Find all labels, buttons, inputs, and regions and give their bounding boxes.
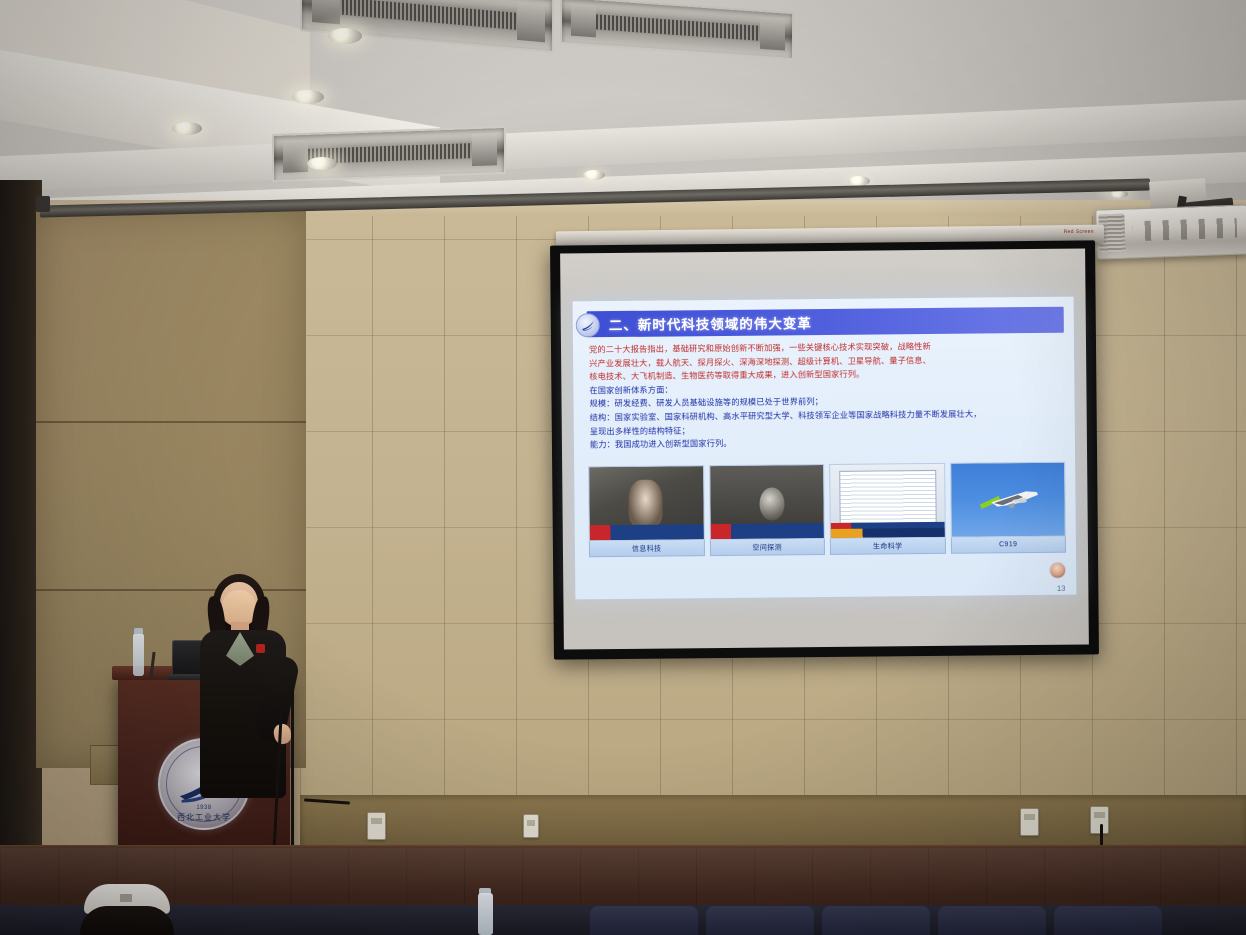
seat: [1054, 906, 1162, 935]
slide-thumbnail-row: 信息科技 空间探测 生命科学: [588, 462, 1066, 558]
ac-grill: [322, 0, 532, 31]
projector-control-panel[interactable]: [1133, 218, 1238, 242]
ac-vane: [517, 2, 545, 42]
seat: [590, 906, 698, 935]
photo-c919-aircraft-image: [950, 462, 1066, 538]
ac-vane: [283, 140, 308, 173]
ceiling-downlight: [172, 122, 202, 135]
aircraft-icon: [960, 482, 1056, 515]
seat: [706, 906, 814, 935]
ceiling-downlight: [583, 170, 605, 180]
news-clip-life-science-image: [829, 463, 945, 539]
ac-vane: [312, 0, 340, 24]
news-ticker: [831, 528, 945, 538]
slide-body: 党的二十大报告指出，基础研究和原始创新不断加强，一些关键核心技术实现突破，战略性…: [589, 339, 1065, 452]
audience-member-with-cap: [84, 884, 170, 935]
ceiling-downlight: [328, 28, 362, 44]
screen-surface: 二、新时代科技领域的伟大变革 党的二十大报告指出，基础研究和原始创新不断加强，一…: [560, 248, 1089, 649]
wall-outlet[interactable]: [523, 814, 539, 838]
thumbnail-caption: 生命科学: [830, 538, 946, 555]
wall-outlet[interactable]: [1020, 808, 1039, 836]
ceiling-ac-unit: [272, 126, 506, 182]
projection-screen: 二、新时代科技领域的伟大变革 党的二十大报告指出，基础研究和原始创新不断加强，一…: [550, 240, 1099, 659]
screen-brand-label: Red Screen: [1064, 229, 1094, 235]
ac-grill: [580, 13, 773, 41]
water-bottle-on-podium: [133, 634, 144, 676]
thumbnail-caption: C919: [950, 537, 1066, 554]
projected-slide: 二、新时代科技领域的伟大变革 党的二十大报告指出，基础研究和原始创新不断加强，一…: [573, 297, 1077, 600]
audience-hair: [80, 906, 174, 935]
lecture-hall-photo: Red Screen 二、新时代科技领域的伟大变革 党的二十大报告指出: [0, 0, 1246, 935]
news-clip-space-exploration-image: [709, 464, 825, 540]
news-clip-information-technology-image: [588, 465, 704, 541]
presenter-face: [222, 590, 256, 626]
slide-thumbnail: 生命科学: [829, 463, 945, 555]
presenter-lapel-badge: [256, 644, 265, 653]
slide-thumbnail: C919: [950, 462, 1066, 554]
thumbnail-caption: 信息科技: [589, 540, 705, 557]
slide-thumbnail: 信息科技: [588, 465, 704, 557]
foreground-water-bottle: [478, 893, 493, 935]
ac-vane: [760, 17, 785, 50]
seat: [822, 906, 930, 935]
news-lower-third: [590, 524, 704, 540]
slide-thumbnail: 空间探测: [709, 464, 825, 556]
ac-vane: [571, 4, 596, 37]
ceiling-projector: [1095, 204, 1246, 259]
rail-end-cap: [36, 196, 50, 212]
news-lower-third: [710, 523, 824, 539]
cable: [291, 690, 294, 865]
slide-title-bar: 二、新时代科技领域的伟大变革: [587, 307, 1064, 338]
ac-vane: [472, 133, 497, 166]
swift-bird-logo-icon: [576, 313, 600, 337]
ceiling-downlight: [292, 90, 324, 104]
presenter-webcam-avatar: [1049, 562, 1066, 579]
ceiling-downlight: [307, 157, 337, 170]
slide-title: 二、新时代科技领域的伟大变革: [609, 312, 812, 334]
wall-outlet[interactable]: [367, 812, 386, 840]
thumbnail-caption: 空间探测: [709, 539, 825, 556]
seat: [938, 906, 1046, 935]
slide-page-number: 13: [1057, 584, 1065, 593]
